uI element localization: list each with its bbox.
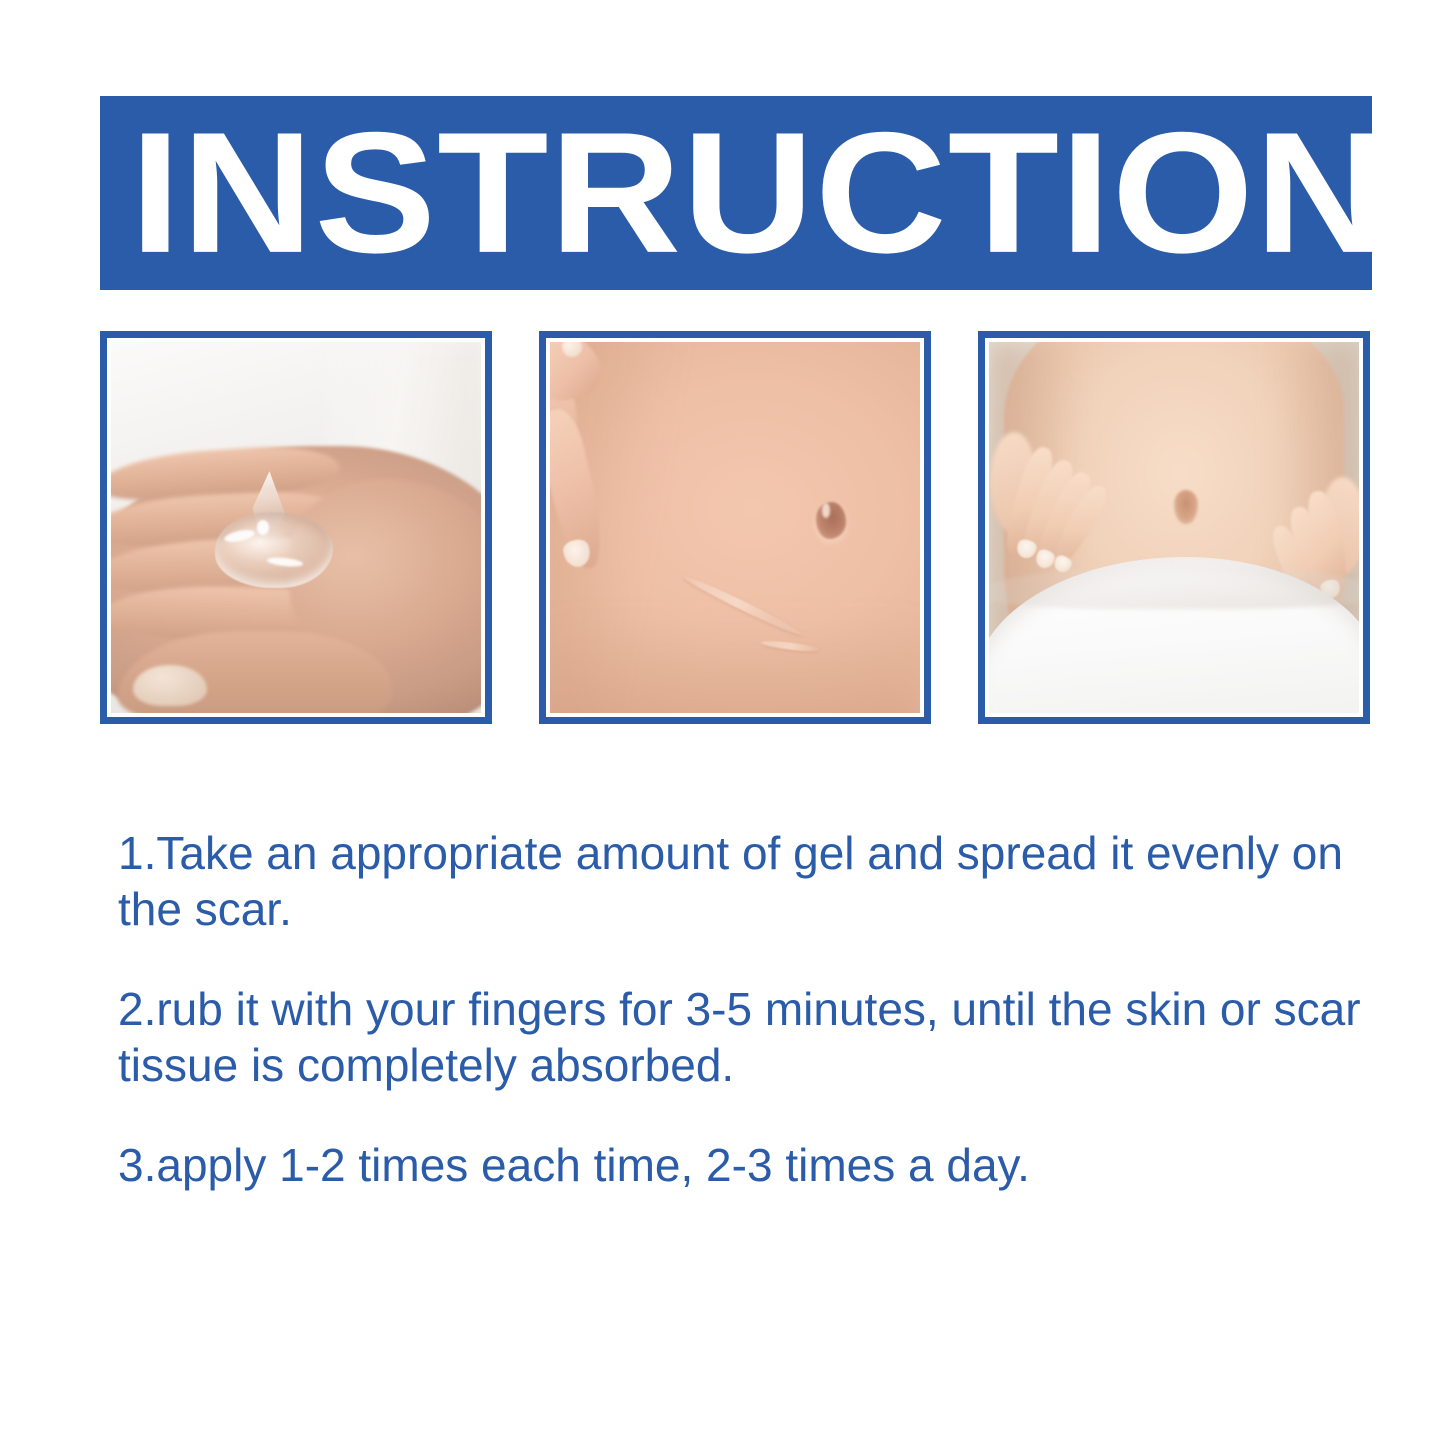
pointing-hand	[550, 342, 691, 579]
instructions-banner: INSTRUCTIONS	[100, 96, 1372, 290]
navel	[816, 502, 846, 539]
panel-smooth-abdomen-image	[989, 342, 1359, 713]
navel	[1174, 490, 1198, 523]
fingernail-shape	[133, 665, 207, 706]
instruction-step-3: 3.apply 1-2 times each time, 2-3 times a…	[118, 1137, 1373, 1193]
photo-waist	[989, 342, 1359, 713]
instruction-image-row	[100, 331, 1370, 726]
panel-gel-on-palm	[100, 331, 492, 724]
gel-highlight	[257, 520, 269, 534]
panel-gel-on-palm-image	[111, 342, 481, 713]
gel-drop	[215, 476, 333, 587]
photo-abdomen-scar	[550, 342, 920, 713]
instruction-steps: 1.Take an appropriate amount of gel and …	[118, 825, 1373, 1194]
panel-finger-on-scar	[539, 331, 931, 724]
torso-shading	[550, 591, 920, 713]
instruction-step-1: 1.Take an appropriate amount of gel and …	[118, 825, 1373, 937]
page-title: INSTRUCTIONS	[130, 114, 1372, 272]
panel-finger-on-scar-image	[550, 342, 920, 713]
photo-gel-on-palm	[111, 342, 481, 713]
gel-body	[215, 512, 333, 588]
instruction-step-2: 2.rub it with your fingers for 3-5 minut…	[118, 981, 1373, 1093]
panel-smooth-abdomen	[978, 331, 1370, 724]
